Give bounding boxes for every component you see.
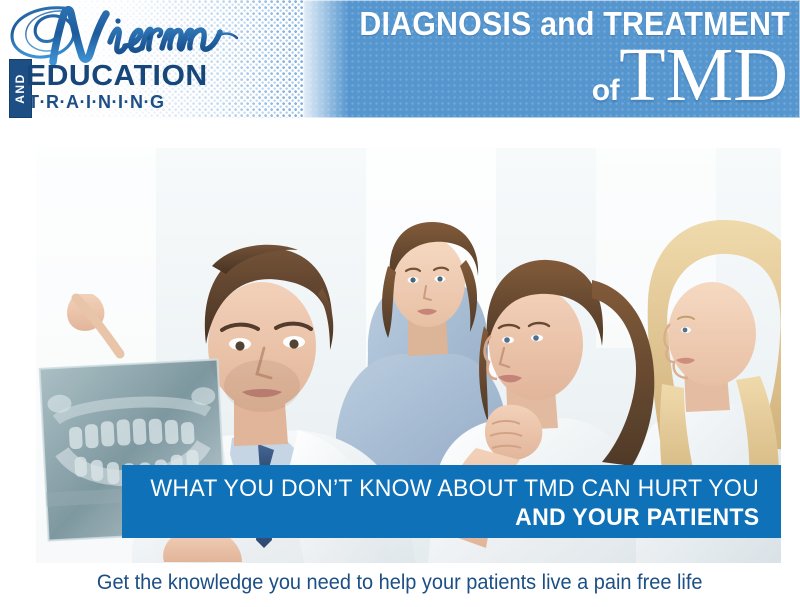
header-title-line2: ofTMD [592,38,788,118]
logo-education-label: EDUCATION [26,60,208,92]
header-title-of: of [592,74,619,107]
title-plate: DIAGNOSIS and TREATMENT ofTMD [303,0,800,118]
banner-line2: AND YOUR PATIENTS [515,502,759,534]
seminar-flyer: DIAGNOSIS and TREATMENT ofTMD [0,0,800,607]
header-title-tmd: TMD [619,33,788,117]
footer-tagline: Get the knowledge you need to help your … [0,568,800,598]
nierman-logo: AND EDUCATION T·R·A·I·N·I·N·G [6,4,246,112]
banner-line1: WHAT YOU DON’T KNOW ABOUT TMD CAN HURT Y… [150,473,759,505]
footer-tagline-text: Get the knowledge you need to help your … [97,568,703,598]
headline-banner: WHAT YOU DON’T KNOW ABOUT TMD CAN HURT Y… [122,465,781,538]
logo-training-label: T·R·A·I·N·I·N·G [28,92,164,112]
header-band: DIAGNOSIS and TREATMENT ofTMD [0,0,800,118]
